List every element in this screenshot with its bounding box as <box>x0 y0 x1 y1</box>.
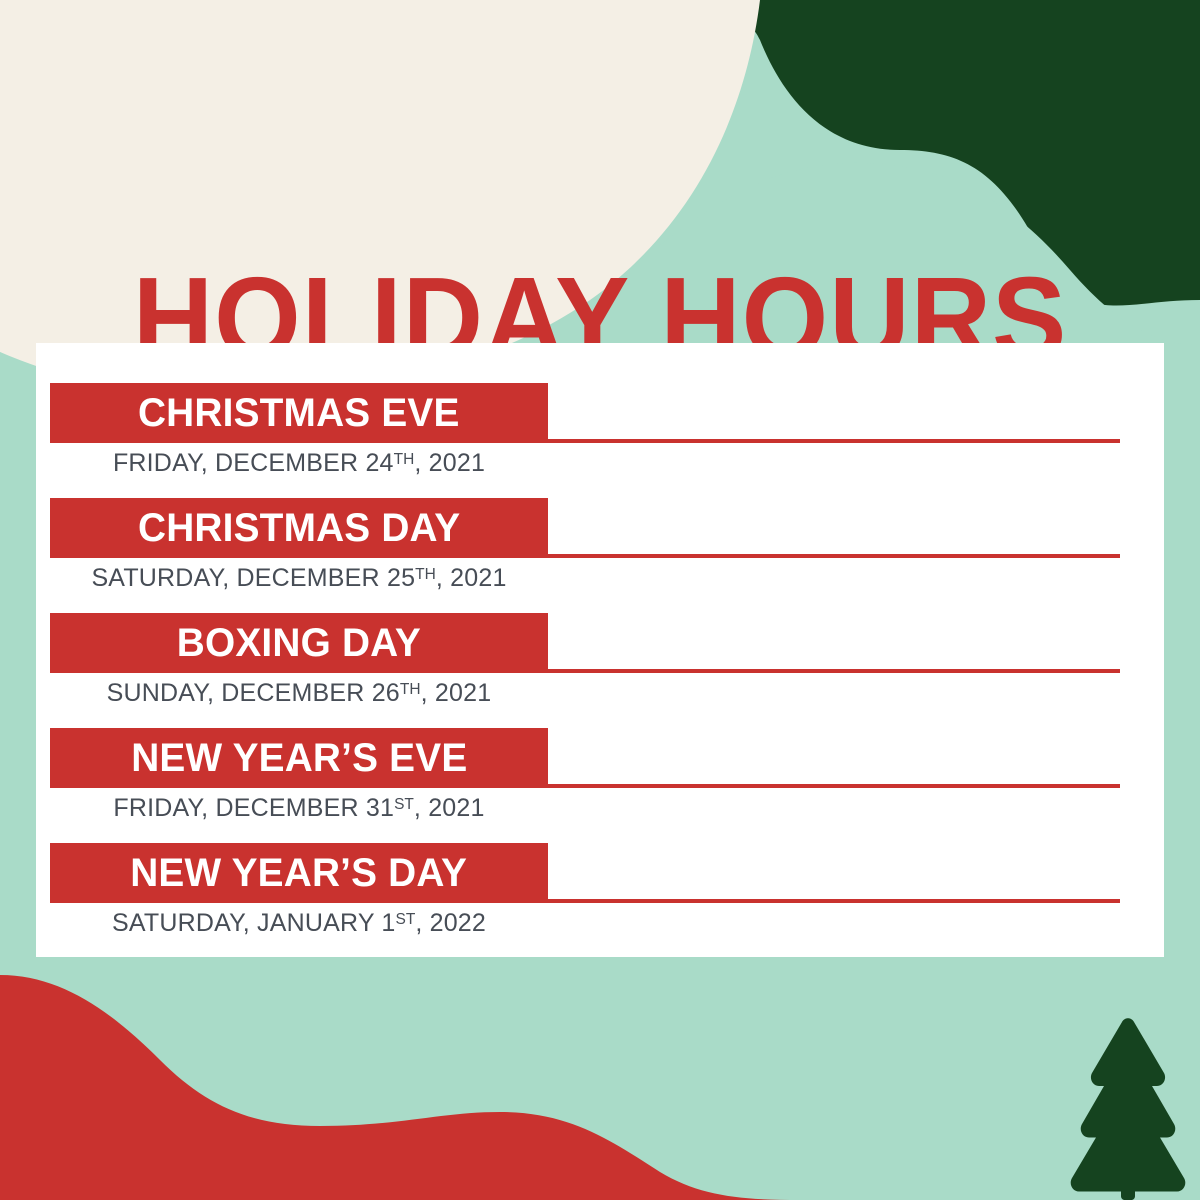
holiday-date: SATURDAY, DECEMBER 25TH, 2021 <box>50 560 548 600</box>
holiday-name: CHRISTMAS DAY <box>138 508 460 548</box>
date-ordinal: ST <box>396 911 416 928</box>
schedule-row: BOXING DAY SUNDAY, DECEMBER 26TH, 2021 <box>50 613 1150 721</box>
schedule-row: NEW YEAR’S DAY SATURDAY, JANUARY 1ST, 20… <box>50 843 1150 951</box>
date-ordinal: TH <box>400 681 421 698</box>
schedule-row: NEW YEAR’S EVE FRIDAY, DECEMBER 31ST, 20… <box>50 728 1150 836</box>
date-ordinal: TH <box>394 451 415 468</box>
holiday-name: NEW YEAR’S DAY <box>131 853 468 893</box>
date-prefix: SATURDAY, DECEMBER 25 <box>91 564 415 592</box>
date-prefix: FRIDAY, DECEMBER 24 <box>113 449 394 477</box>
hours-write-in-line[interactable] <box>548 554 1120 558</box>
date-suffix: , 2021 <box>436 564 507 592</box>
schedule-card: CHRISTMAS EVE FRIDAY, DECEMBER 24TH, 202… <box>36 343 1164 957</box>
date-suffix: , 2021 <box>414 449 485 477</box>
hours-write-in-line[interactable] <box>548 439 1120 443</box>
holiday-name: NEW YEAR’S EVE <box>131 738 467 778</box>
holiday-label-bar: CHRISTMAS DAY <box>50 498 548 558</box>
holiday-hours-poster: HOLIDAY HOURS CHRISTMAS EVE FRIDAY, DECE… <box>0 0 1200 1200</box>
hours-write-in-line[interactable] <box>548 669 1120 673</box>
date-prefix: SUNDAY, DECEMBER 26 <box>107 679 400 707</box>
holiday-label-bar: NEW YEAR’S DAY <box>50 843 548 903</box>
holiday-label-bar: CHRISTMAS EVE <box>50 383 548 443</box>
date-suffix: , 2021 <box>421 679 492 707</box>
hours-write-in-line[interactable] <box>548 784 1120 788</box>
schedule-rows: CHRISTMAS EVE FRIDAY, DECEMBER 24TH, 202… <box>50 343 1150 957</box>
holiday-label-bar: BOXING DAY <box>50 613 548 673</box>
date-prefix: FRIDAY, DECEMBER 31 <box>113 794 394 822</box>
holiday-date: FRIDAY, DECEMBER 24TH, 2021 <box>50 445 548 485</box>
date-ordinal: TH <box>415 566 436 583</box>
holiday-label-bar: NEW YEAR’S EVE <box>50 728 548 788</box>
holiday-date: SUNDAY, DECEMBER 26TH, 2021 <box>50 675 548 715</box>
schedule-row: CHRISTMAS EVE FRIDAY, DECEMBER 24TH, 202… <box>50 383 1150 491</box>
date-ordinal: ST <box>394 796 414 813</box>
holiday-name: CHRISTMAS EVE <box>138 393 460 433</box>
schedule-row: CHRISTMAS DAY SATURDAY, DECEMBER 25TH, 2… <box>50 498 1150 606</box>
date-suffix: , 2021 <box>414 794 485 822</box>
date-suffix: , 2022 <box>415 909 486 937</box>
holiday-date: FRIDAY, DECEMBER 31ST, 2021 <box>50 790 548 830</box>
hours-write-in-line[interactable] <box>548 899 1120 903</box>
holiday-date: SATURDAY, JANUARY 1ST, 2022 <box>50 905 548 945</box>
holiday-name: BOXING DAY <box>177 623 421 663</box>
date-prefix: SATURDAY, JANUARY 1 <box>112 909 396 937</box>
